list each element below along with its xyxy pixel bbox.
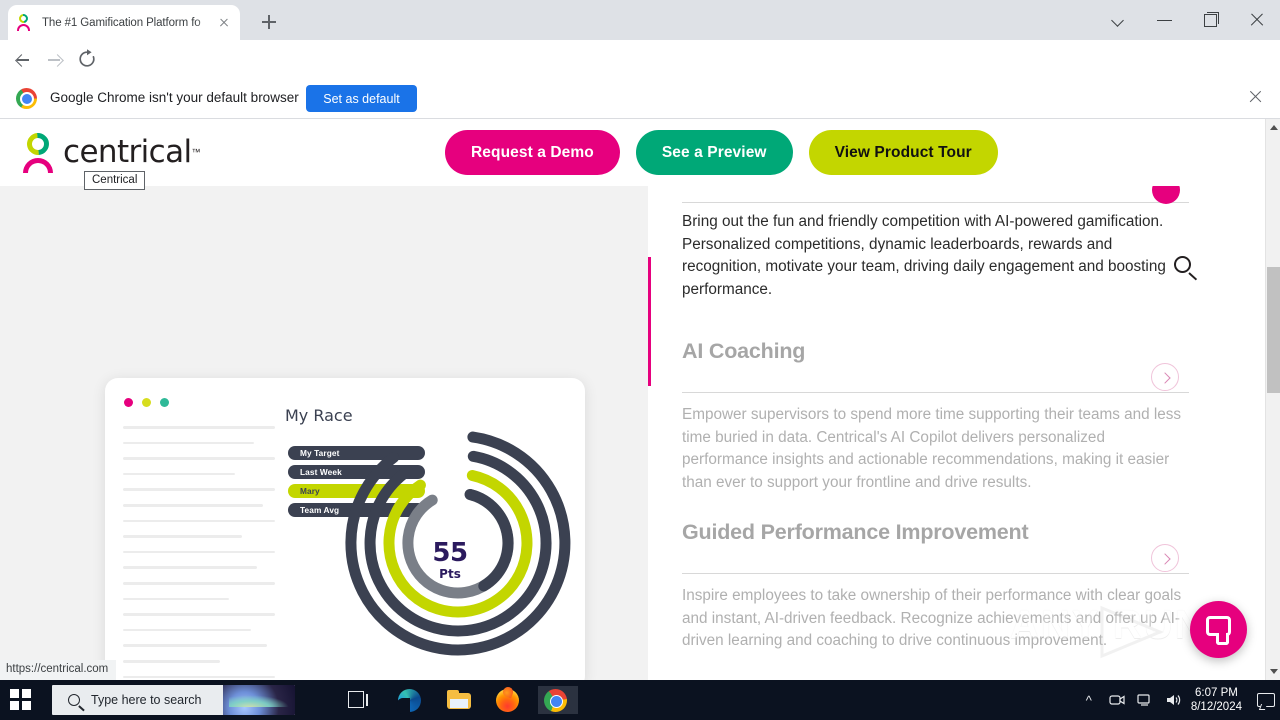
task-view-icon[interactable] [340, 686, 380, 714]
close-icon[interactable] [1234, 0, 1280, 40]
windows-start-icon[interactable] [10, 689, 32, 711]
skeleton-lines [123, 426, 275, 680]
points-label: Pts [415, 567, 485, 581]
firefox-icon[interactable] [490, 686, 530, 714]
active-section-bar [648, 257, 651, 386]
legend-label: Mary [300, 486, 320, 496]
file-explorer-icon[interactable] [441, 686, 481, 714]
clock-date: 8/12/2024 [1191, 700, 1242, 714]
page-scrollbar[interactable] [1265, 119, 1280, 680]
view-product-tour-button[interactable]: View Product Tour [809, 130, 998, 175]
scrollbar-thumb[interactable] [1267, 267, 1280, 393]
maximize-icon[interactable] [1188, 0, 1234, 40]
browser-window: The #1 Gamification Platform fo centrica… [0, 0, 1280, 680]
browser-toolbar: centrical.com ☆ [0, 40, 1280, 78]
search-icon [68, 694, 80, 706]
illustration-column: My Race My Target Last Week Mary Team Av… [0, 186, 648, 680]
cortana-image [223, 685, 295, 715]
divider [682, 392, 1189, 393]
accordion-title[interactable]: AI Coaching [682, 339, 805, 364]
logo-tooltip: Centrical [84, 171, 145, 190]
default-browser-infobar: Google Chrome isn't your default browser [0, 78, 1280, 119]
tab-strip: The #1 Gamification Platform fo [0, 0, 1280, 40]
back-arrow-icon[interactable] [11, 48, 33, 70]
window-dots [124, 398, 169, 407]
clock-time: 6:07 PM [1191, 686, 1242, 700]
chrome-logo-icon [16, 88, 37, 109]
header-cta-buttons: Request a Demo See a Preview View Produc… [445, 130, 998, 175]
chat-bubble-icon [1206, 616, 1231, 636]
status-url-bubble: https://centrical.com [0, 660, 116, 680]
set-as-default-button[interactable]: Set as default [306, 85, 417, 112]
scroll-down-arrow-icon[interactable] [1270, 669, 1278, 674]
google-chrome-icon[interactable] [538, 686, 578, 714]
search-icon[interactable] [1172, 254, 1202, 284]
tray-chevron-icon[interactable]: ^ [1075, 680, 1103, 720]
accordion-body: Empower supervisors to spend more time s… [682, 404, 1190, 494]
window-controls [1096, 0, 1280, 40]
my-race-screenshot-card: My Race My Target Last Week Mary Team Av… [105, 378, 585, 680]
see-a-preview-button[interactable]: See a Preview [636, 130, 793, 175]
browser-tab[interactable]: The #1 Gamification Platform fo [8, 5, 240, 40]
page-content: My Race My Target Last Week Mary Team Av… [0, 186, 1265, 680]
search-placeholder: Type here to search [91, 693, 201, 707]
infobar-message: Google Chrome isn't your default browser [50, 90, 299, 105]
accordion-body: Inspire employees to take ownership of t… [682, 585, 1190, 653]
network-icon[interactable] [1131, 680, 1159, 720]
volume-icon[interactable] [1159, 680, 1187, 720]
tab-close-icon[interactable] [216, 15, 232, 31]
minimize-icon[interactable] [1142, 0, 1188, 40]
accordion-title[interactable]: Guided Performance Improvement [682, 520, 1028, 545]
reload-icon[interactable] [76, 48, 98, 70]
divider [682, 573, 1189, 574]
centrical-favicon-icon [16, 14, 33, 31]
new-tab-button[interactable] [258, 11, 280, 33]
centrical-logo[interactable]: centrical ™ [20, 132, 201, 172]
chevron-down-icon[interactable] [1096, 0, 1142, 40]
tab-title: The #1 Gamification Platform fo [42, 17, 216, 29]
scroll-up-arrow-icon[interactable] [1270, 125, 1278, 130]
taskbar-clock[interactable]: 6:07 PM 8/12/2024 [1187, 686, 1250, 714]
camera-icon[interactable] [1103, 680, 1131, 720]
chevron-right-icon[interactable] [1151, 363, 1179, 391]
logo-trademark: ™ [192, 147, 201, 157]
page-viewport: centrical ™ Centrical Request a Demo See… [0, 119, 1280, 680]
taskbar-search-input[interactable]: Type here to search [52, 685, 295, 715]
chevron-right-icon[interactable] [1151, 544, 1179, 572]
notification-icon[interactable] [1250, 680, 1280, 720]
infobar-close-icon[interactable] [1247, 88, 1263, 104]
system-tray: ^ 6:07 PM 8/12/2024 [1075, 680, 1280, 720]
accordion-body: Bring out the fun and friendly competiti… [682, 211, 1190, 301]
windows-taskbar: Type here to search ^ 6:07 PM 8/12/2024 [0, 680, 1280, 720]
request-a-demo-button[interactable]: Request a Demo [445, 130, 620, 175]
chat-widget-button[interactable] [1190, 601, 1247, 658]
forward-arrow-icon[interactable] [44, 48, 66, 70]
microsoft-edge-icon[interactable] [392, 686, 432, 714]
logo-text: centrical [63, 134, 192, 170]
points-value: 55 [415, 538, 485, 568]
centrical-logo-icon [20, 132, 58, 172]
divider [682, 202, 1189, 203]
